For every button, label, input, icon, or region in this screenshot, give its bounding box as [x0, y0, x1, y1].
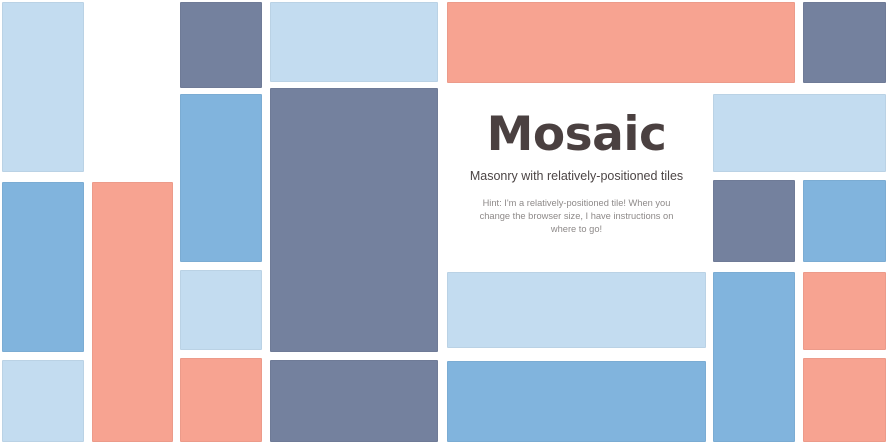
mosaic-canvas: Mosaic Masonry with relatively-positione… — [0, 0, 888, 446]
tile-c5-banner — [447, 2, 795, 83]
tile-c1-r2 — [2, 182, 84, 352]
tile-c1-r1 — [2, 2, 84, 172]
tile-c3-r2 — [180, 94, 262, 262]
tile-c7-r5 — [803, 358, 886, 442]
tile-c7-r3 — [803, 180, 886, 262]
tile-c4-r1 — [270, 2, 438, 82]
tile-c2-r1 — [92, 182, 173, 442]
tile-c5-r2 — [447, 272, 706, 348]
tile-c5-r3 — [447, 361, 706, 442]
tile-c6-r3 — [713, 180, 795, 262]
tile-c6-r4 — [713, 272, 795, 442]
tile-c3-r4 — [180, 358, 262, 442]
tile-c4-r3 — [270, 360, 438, 442]
page-hint-text: Hint: I'm a relatively-positioned tile! … — [468, 197, 686, 237]
tile-c3-r3 — [180, 270, 262, 350]
intro-card: Mosaic Masonry with relatively-positione… — [445, 88, 708, 264]
tile-c4-r2 — [270, 88, 438, 352]
tile-c6-wide — [713, 94, 886, 172]
tile-c3-r1 — [180, 2, 262, 88]
tile-c7-r4 — [803, 272, 886, 350]
page-title: Mosaic — [487, 111, 667, 160]
page-subtitle: Masonry with relatively-positioned tiles — [470, 169, 683, 185]
tile-c6-r1 — [803, 2, 886, 83]
tile-c1-r3 — [2, 360, 84, 442]
